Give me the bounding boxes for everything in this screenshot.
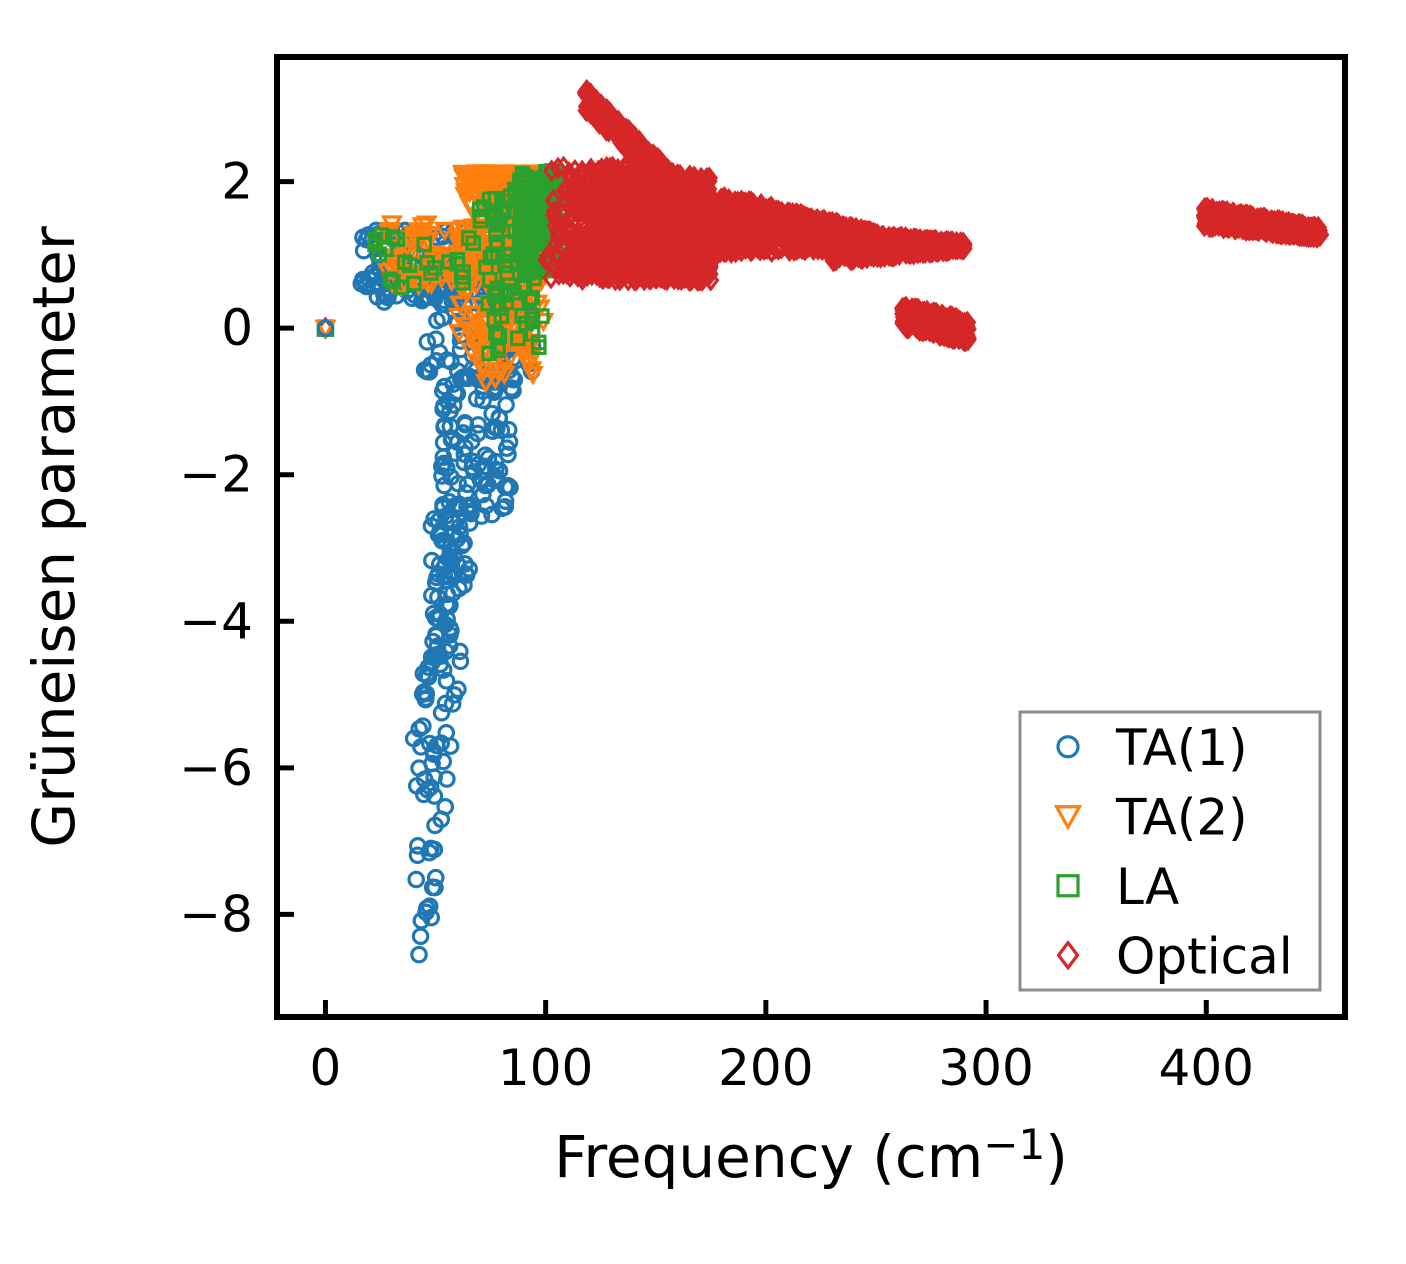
figure-canvas: 010020030040020−2−4−6−8Frequency (cm−1)G… (0, 0, 1406, 1264)
data-point (413, 929, 427, 943)
scatter-plot: 010020030040020−2−4−6−8Frequency (cm−1)G… (0, 0, 1406, 1264)
data-point (429, 332, 443, 346)
data-point (429, 870, 443, 884)
data-point (412, 947, 426, 961)
data-point (409, 872, 423, 886)
series-optical (539, 81, 1327, 350)
